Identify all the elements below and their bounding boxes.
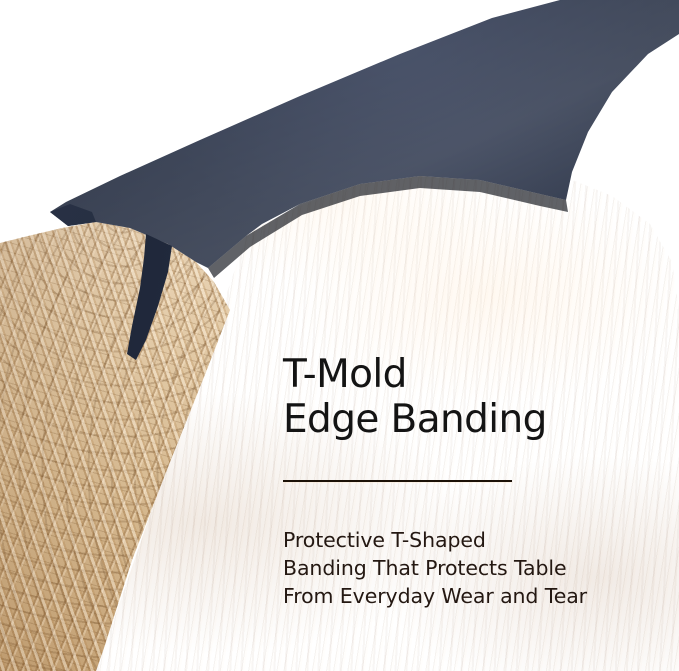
product-photo-scene: T-Mold Edge Banding Protective T-Shaped … bbox=[0, 0, 679, 671]
headline-divider-rule bbox=[283, 480, 512, 482]
product-subcopy: Protective T-Shaped Banding That Protect… bbox=[283, 526, 643, 610]
product-headline: T-Mold Edge Banding bbox=[283, 352, 643, 442]
marketing-text-overlay: T-Mold Edge Banding Protective T-Shaped … bbox=[283, 352, 643, 610]
